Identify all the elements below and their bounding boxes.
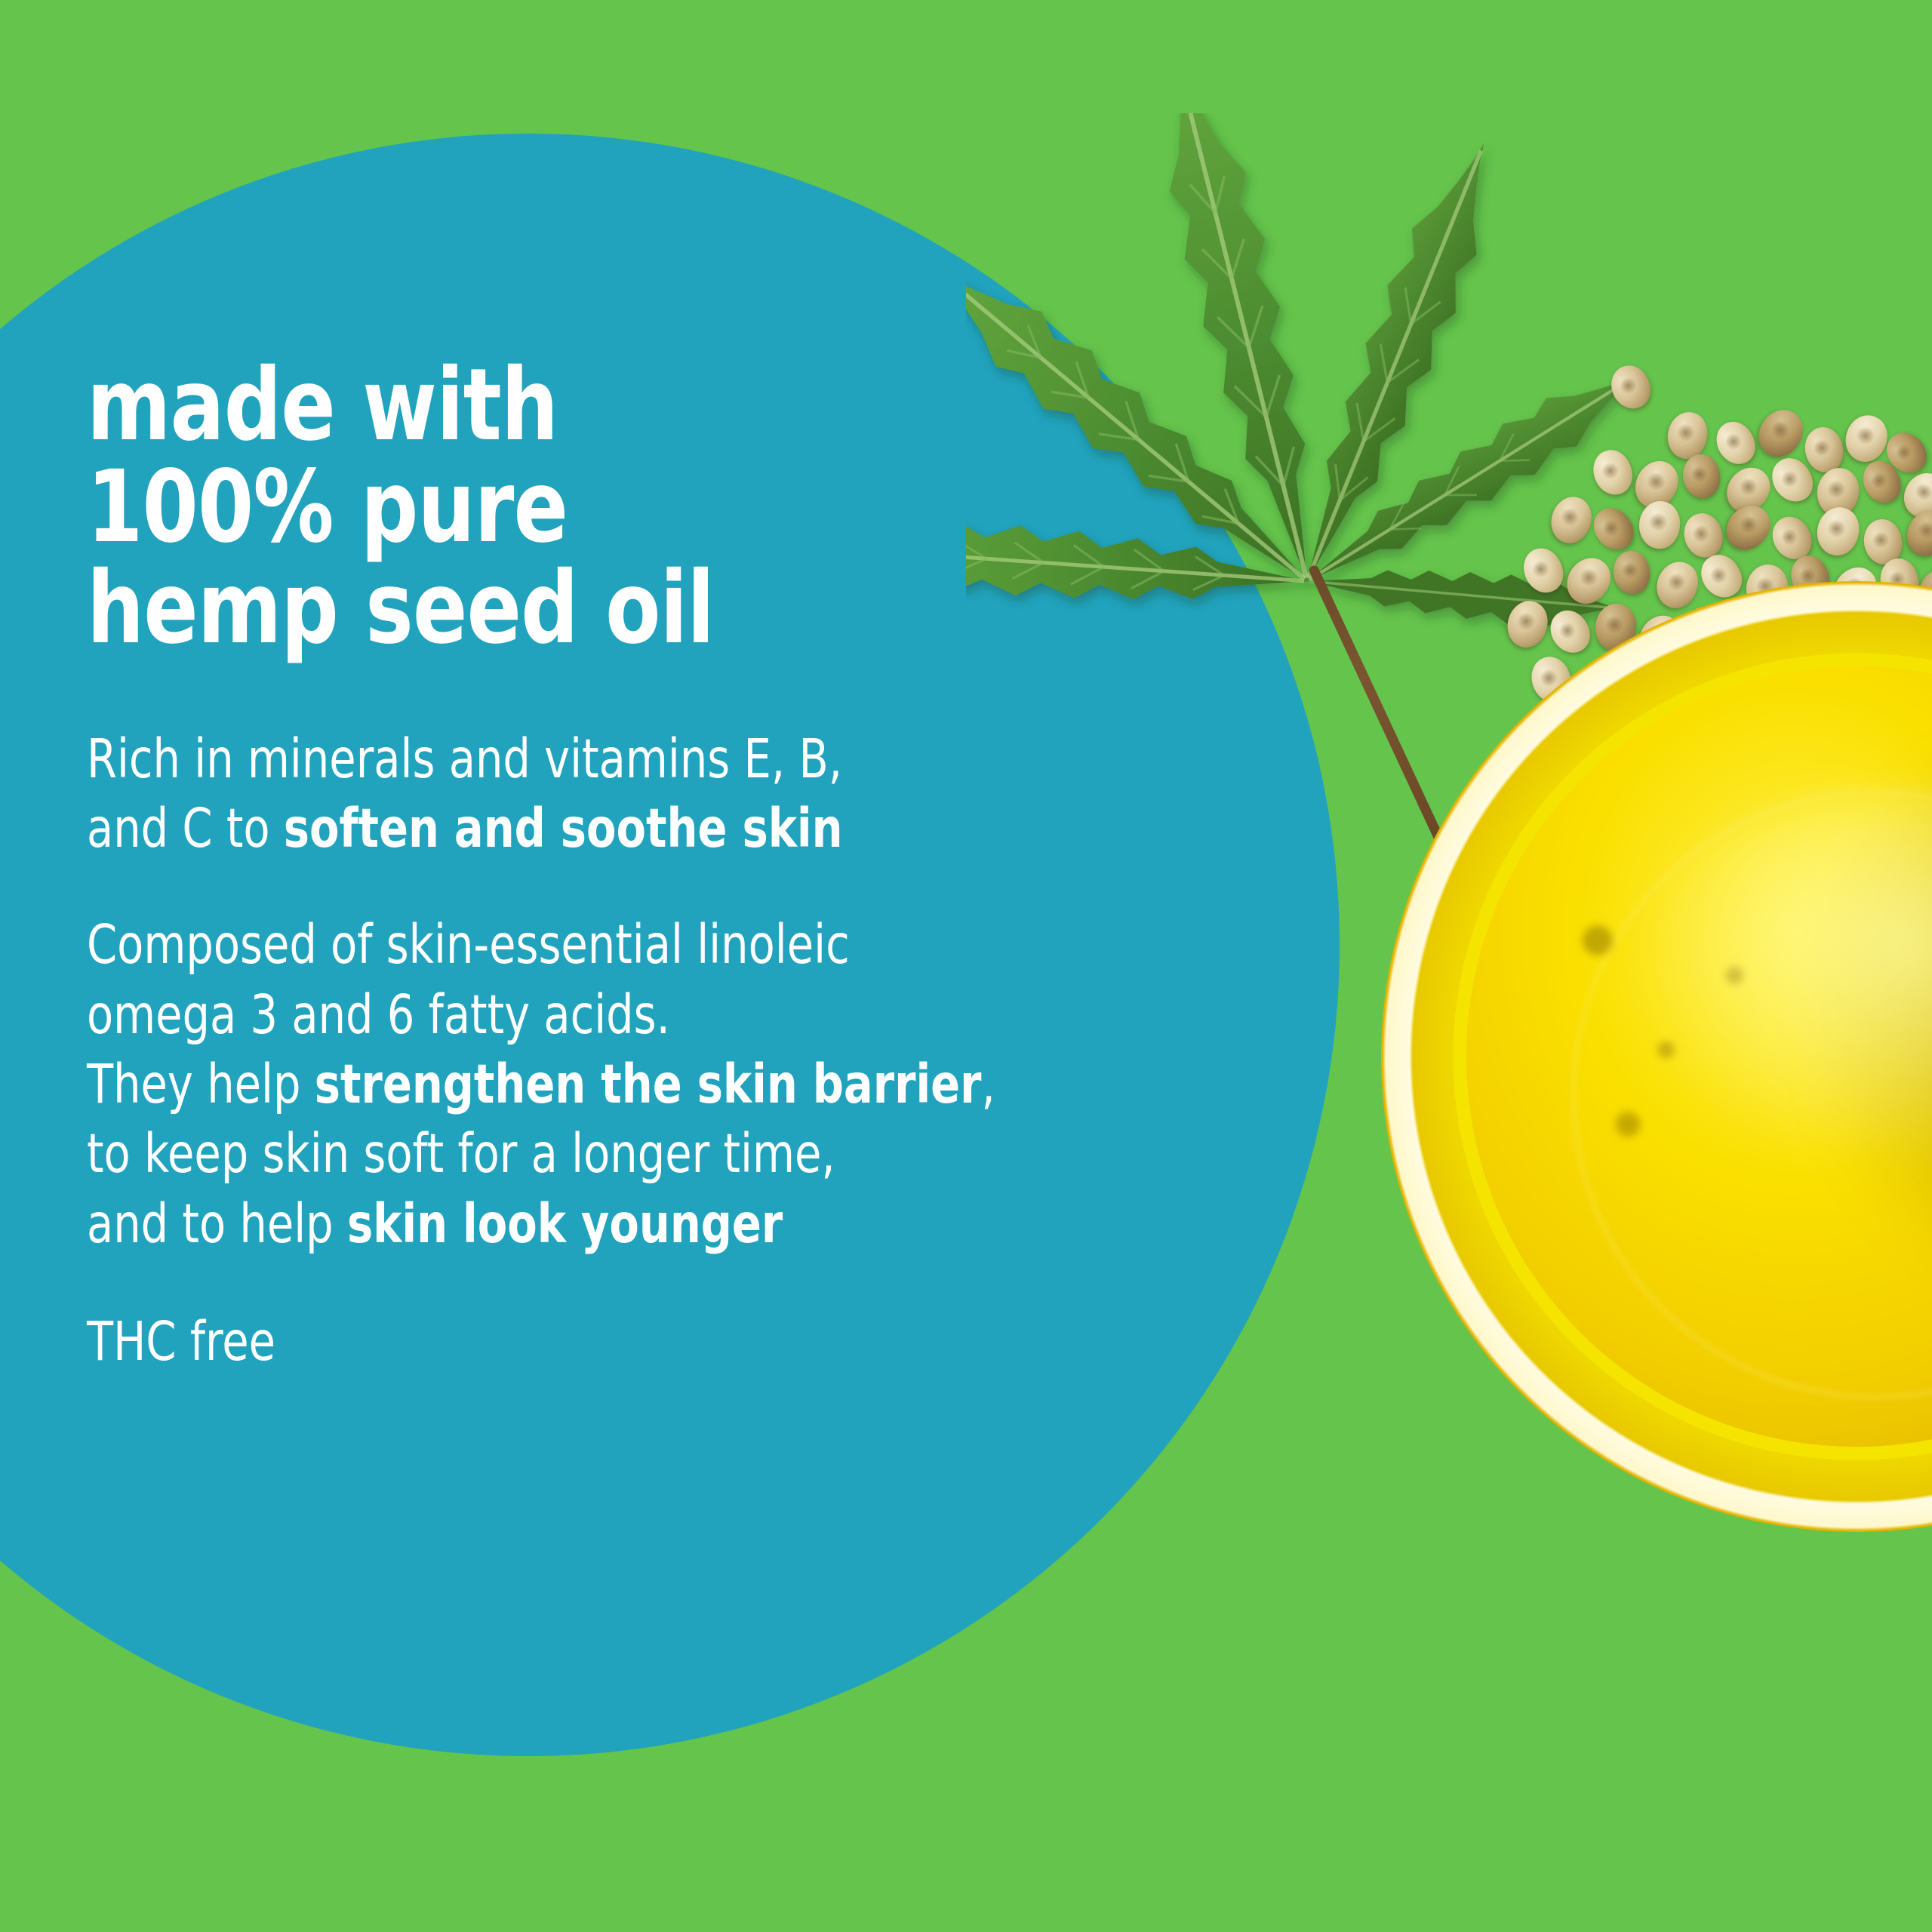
benefit-paragraph-vitamins: Rich in minerals and vitamins E, B, and … (87, 724, 1146, 864)
advertisement-canvas: made with 100% pure hemp seed oil Rich i… (0, 0, 1932, 1932)
benefit-paragraph-fatty-acids: Composed of skin-essential linoleic omeg… (87, 910, 1146, 1258)
p2-bold-text-barrier: strengthen the skin barrier (315, 1053, 982, 1115)
page-title: made with 100% pure hemp seed oil (87, 355, 1146, 660)
p1-bold-text: soften and soothe skin (284, 797, 843, 860)
thc-free-claim: THC free (87, 1307, 1146, 1377)
p2-bold-text-younger: skin look younger (347, 1192, 783, 1255)
copy-block: made with 100% pure hemp seed oil Rich i… (87, 355, 1264, 1377)
